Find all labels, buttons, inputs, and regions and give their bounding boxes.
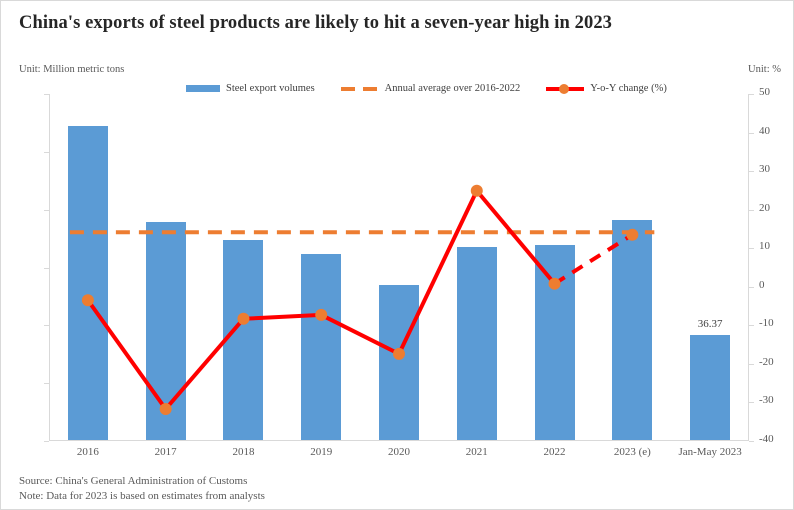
yoy-marker-2023-e-[interactable]	[626, 229, 638, 241]
right-axis-tick-label: -20	[759, 356, 774, 368]
yoy-marker-2017[interactable]	[160, 403, 172, 415]
footer-source: Source: China's General Administration o…	[19, 474, 265, 489]
yoy-marker-2019[interactable]	[315, 309, 327, 321]
right-axis-tick-mark	[749, 287, 754, 288]
right-axis-tick-label: -10	[759, 317, 774, 329]
category-label-jan-may-2023: Jan-May 2023	[665, 446, 755, 458]
right-axis-tick-mark	[749, 441, 754, 442]
right-axis-tick-label: -30	[759, 394, 774, 406]
right-axis-tick-mark	[749, 248, 754, 249]
yoy-line-segment	[321, 315, 399, 354]
right-axis-tick-label: 50	[759, 86, 770, 98]
plot-area: 020406080100120 -40-30-20-1001020304050 …	[49, 94, 749, 441]
right-axis-tick-label: 0	[759, 279, 765, 291]
right-axis-tick-label: -40	[759, 433, 774, 445]
legend-label-steel-export-volumes: Steel export volumes	[226, 83, 315, 94]
right-axis-tick-mark	[749, 325, 754, 326]
category-label-2018: 2018	[198, 446, 288, 458]
yoy-line-segment	[477, 191, 555, 284]
legend-label-yoy-change: Y-o-Y change (%)	[590, 83, 667, 94]
right-axis-tick-label: 10	[759, 240, 770, 252]
left-axis-unit-caption: Unit: Million metric tons	[19, 64, 124, 75]
chart-legend: Steel export volumes Annual average over…	[186, 83, 667, 94]
footer-notes: Source: China's General Administration o…	[19, 474, 265, 504]
right-axis-unit-caption: Unit: %	[748, 64, 781, 75]
right-axis-tick-label: 20	[759, 202, 770, 214]
yoy-line-segment	[88, 300, 166, 409]
legend-item-yoy-change[interactable]: Y-o-Y change (%)	[546, 83, 667, 94]
right-axis-tick-mark	[749, 171, 754, 172]
line-series-overlay	[49, 94, 749, 441]
category-label-2020: 2020	[354, 446, 444, 458]
right-axis-tick-mark	[749, 210, 754, 211]
chart-page: China's exports of steel products are li…	[0, 0, 794, 510]
category-label-2021: 2021	[432, 446, 522, 458]
category-label-2023-e-: 2023 (e)	[587, 446, 677, 458]
yoy-line-segment	[166, 319, 244, 409]
yoy-marker-2022[interactable]	[549, 278, 561, 290]
yoy-line-segment	[555, 235, 633, 284]
yoy-marker-2018[interactable]	[237, 313, 249, 325]
right-axis-tick-label: 40	[759, 125, 770, 137]
category-label-2017: 2017	[121, 446, 211, 458]
right-axis-tick-label: 30	[759, 163, 770, 175]
yoy-line-segment	[243, 315, 321, 319]
legend-item-annual-average[interactable]: Annual average over 2016-2022	[341, 83, 521, 94]
legend-bar-swatch-icon	[186, 85, 220, 92]
right-axis-tick-mark	[749, 402, 754, 403]
legend-dashed-line-swatch-icon	[341, 87, 379, 91]
yoy-marker-2016[interactable]	[82, 294, 94, 306]
right-axis-tick-mark	[749, 364, 754, 365]
legend-line-marker-swatch-icon	[546, 84, 584, 94]
right-axis-tick-mark	[749, 94, 754, 95]
right-axis-tick-mark	[749, 133, 754, 134]
legend-label-annual-average: Annual average over 2016-2022	[385, 83, 521, 94]
yoy-marker-2020[interactable]	[393, 348, 405, 360]
yoy-line-segment	[399, 191, 477, 354]
legend-item-steel-export-volumes[interactable]: Steel export volumes	[186, 83, 315, 94]
footer-note: Note: Data for 2023 is based on estimate…	[19, 489, 265, 504]
category-label-2022: 2022	[510, 446, 600, 458]
category-label-2016: 2016	[43, 446, 133, 458]
left-axis-tick-mark	[44, 441, 49, 442]
category-label-2019: 2019	[276, 446, 366, 458]
page-title: China's exports of steel products are li…	[19, 13, 612, 34]
yoy-marker-2021[interactable]	[471, 185, 483, 197]
